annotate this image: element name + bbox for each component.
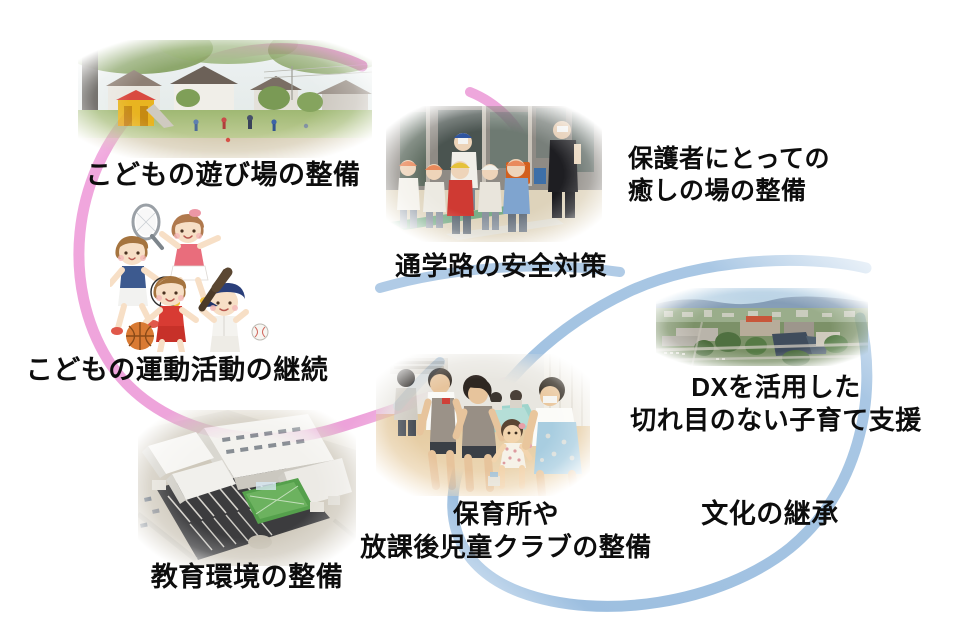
playground-photo	[78, 40, 372, 158]
caption-dx-support: DXを活用した 切れ目のない子育て支援	[600, 371, 952, 438]
caption-guardian-healing: 保護者にとっての 癒しの場の整備	[628, 143, 868, 207]
aerial-town-photo	[656, 288, 868, 366]
caption-playground: こどもの遊び場の整備	[68, 158, 378, 193]
caption-sports: こどもの運動活動の継続	[16, 353, 338, 388]
caption-nursery: 保育所や 放課後児童クラブの整備	[338, 498, 674, 565]
caption-culture: 文化の継承	[680, 497, 860, 532]
caption-education: 教育環境の整備	[112, 560, 382, 595]
nursery-photo	[376, 354, 590, 496]
school-route-photo	[386, 106, 602, 242]
child-baseball	[202, 272, 268, 352]
diagram-canvas: こどもの遊び場の整備	[0, 0, 960, 640]
sports-children-illustration	[110, 196, 280, 352]
school-aerial-photo	[138, 410, 356, 566]
caption-school-route: 通学路の安全対策	[378, 250, 624, 283]
